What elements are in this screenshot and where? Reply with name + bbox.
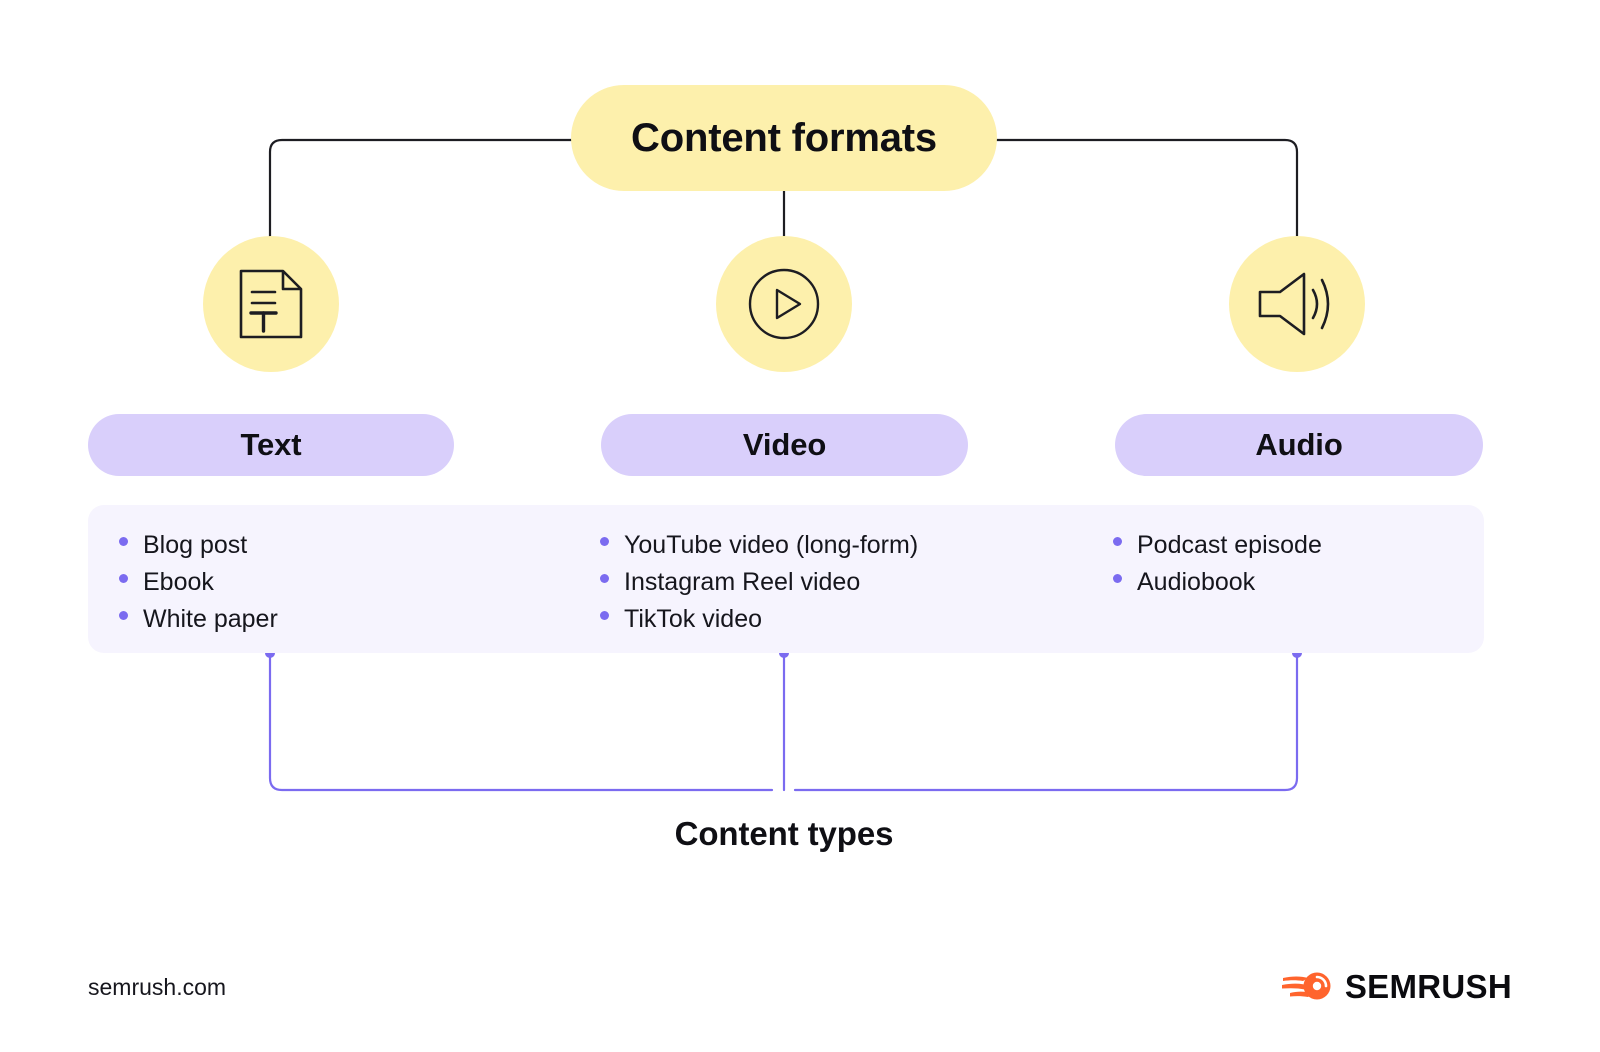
list-item-label: Podcast episode xyxy=(1137,527,1322,564)
list-item[interactable]: Podcast episode xyxy=(1113,527,1322,564)
list-item-label: TikTok video xyxy=(624,601,762,638)
category-pill-audio[interactable]: Audio xyxy=(1115,414,1483,476)
list-item[interactable]: Instagram Reel video xyxy=(600,564,918,601)
root-node-label: Content formats xyxy=(631,116,937,161)
list-item-label: Ebook xyxy=(143,564,214,601)
bottom-bracket-label: Content types xyxy=(0,815,1568,853)
list-video: YouTube video (long-form) Instagram Reel… xyxy=(600,527,918,638)
list-audio: Podcast episode Audiobook xyxy=(1113,527,1322,601)
list-item-label: Blog post xyxy=(143,527,247,564)
footer-url: semrush.com xyxy=(88,974,226,1001)
category-pill-text-label: Text xyxy=(240,427,301,463)
category-pill-text[interactable]: Text xyxy=(88,414,454,476)
category-pill-audio-label: Audio xyxy=(1255,427,1342,463)
category-pill-video[interactable]: Video xyxy=(601,414,968,476)
bullet-icon xyxy=(1113,574,1122,583)
list-item[interactable]: TikTok video xyxy=(600,601,918,638)
list-item[interactable]: YouTube video (long-form) xyxy=(600,527,918,564)
content-types-band: Blog post Ebook White paper YouTube vide… xyxy=(88,505,1484,653)
play-circle-icon xyxy=(748,268,820,340)
list-item-label: Audiobook xyxy=(1137,564,1255,601)
speaker-volume-icon xyxy=(1258,270,1336,338)
icon-circle-audio[interactable] xyxy=(1229,236,1365,372)
list-item[interactable]: Blog post xyxy=(119,527,278,564)
brand-logo: SEMRUSH xyxy=(1281,966,1512,1007)
list-item[interactable]: Ebook xyxy=(119,564,278,601)
bullet-icon xyxy=(119,611,128,620)
list-column-text: Blog post Ebook White paper xyxy=(119,527,278,638)
bullet-icon xyxy=(119,574,128,583)
icon-circle-text[interactable] xyxy=(203,236,339,372)
list-item-label: White paper xyxy=(143,601,278,638)
bullet-icon xyxy=(600,611,609,620)
semrush-comet-logo-icon xyxy=(1281,966,1333,1007)
list-text: Blog post Ebook White paper xyxy=(119,527,278,638)
bullet-icon xyxy=(119,537,128,546)
bullet-icon xyxy=(1113,537,1122,546)
category-pill-video-label: Video xyxy=(743,427,826,463)
icon-circle-video[interactable] xyxy=(716,236,852,372)
bullet-icon xyxy=(600,574,609,583)
diagram-canvas: Content formats xyxy=(0,0,1600,1052)
brand-name: SEMRUSH xyxy=(1345,968,1512,1006)
list-column-audio: Podcast episode Audiobook xyxy=(1113,527,1322,601)
list-column-video: YouTube video (long-form) Instagram Reel… xyxy=(600,527,918,638)
list-item[interactable]: White paper xyxy=(119,601,278,638)
list-item-label: Instagram Reel video xyxy=(624,564,860,601)
list-item[interactable]: Audiobook xyxy=(1113,564,1322,601)
list-item-label: YouTube video (long-form) xyxy=(624,527,918,564)
root-node-content-formats[interactable]: Content formats xyxy=(571,85,997,191)
bullet-icon xyxy=(600,537,609,546)
document-text-icon xyxy=(239,269,303,339)
